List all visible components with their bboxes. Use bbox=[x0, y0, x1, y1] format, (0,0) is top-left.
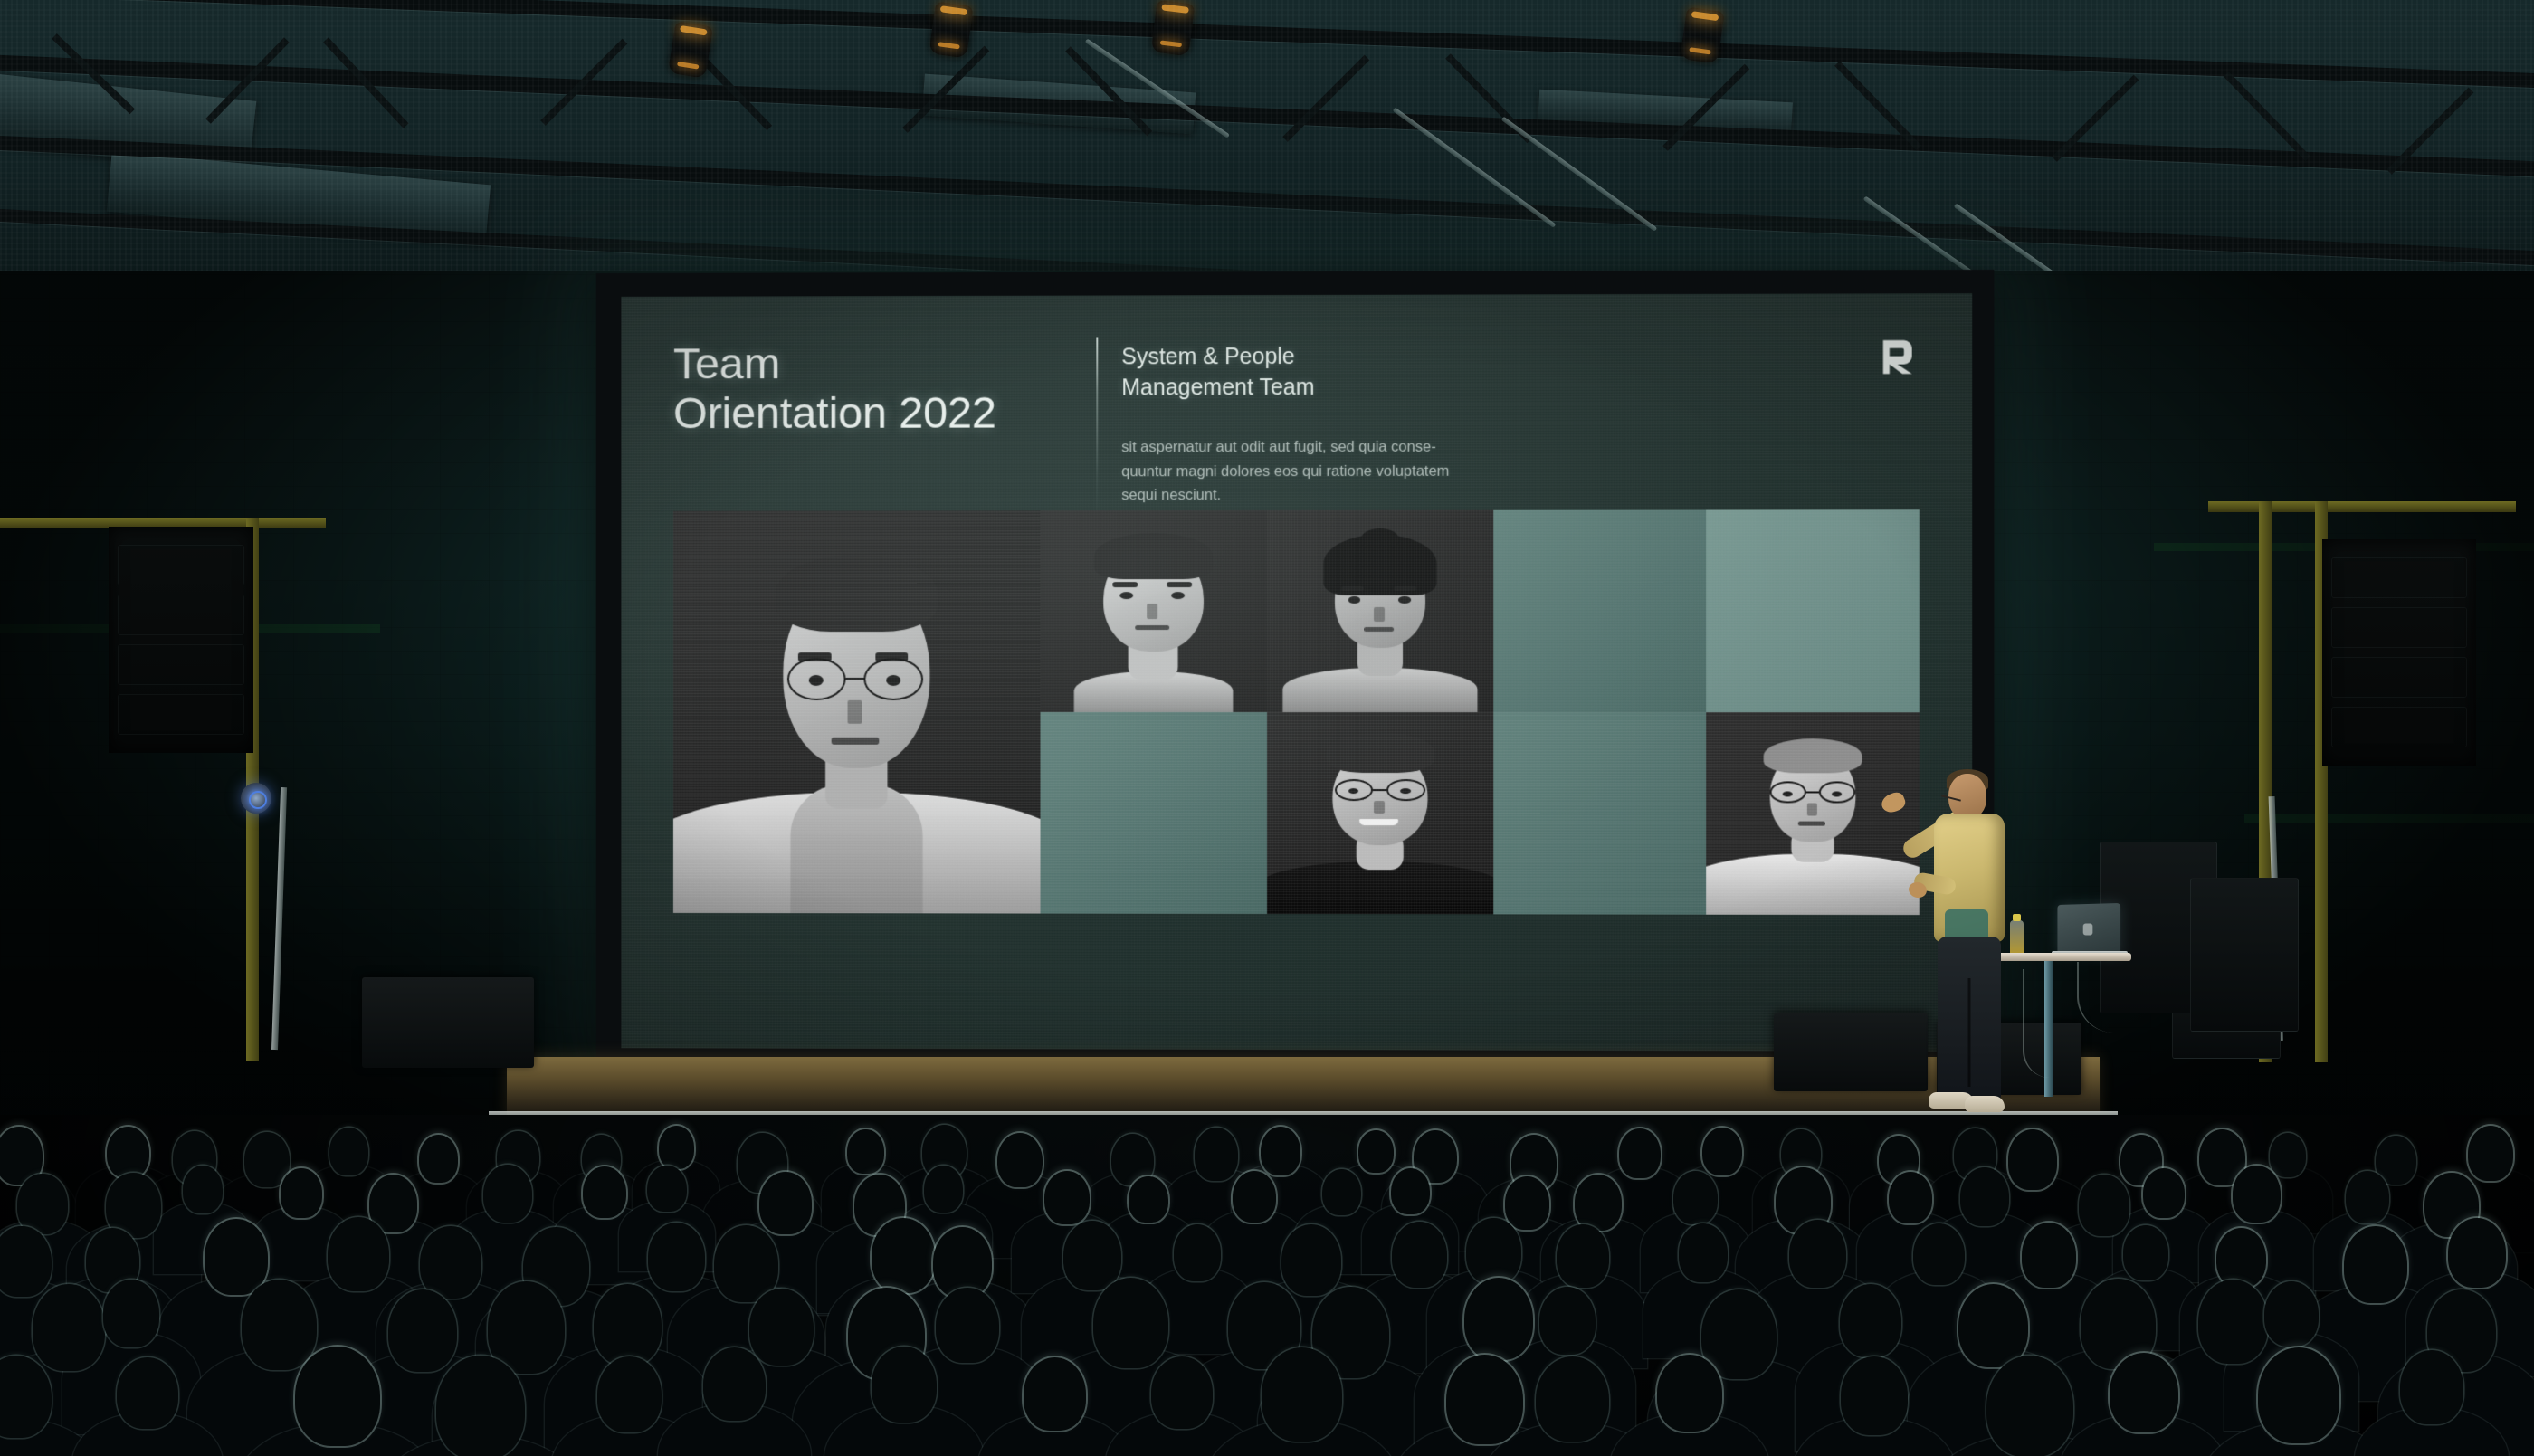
truss-diagonal-l bbox=[2052, 75, 2139, 162]
truss-diagonal-n bbox=[2386, 88, 2473, 175]
audience-member-head bbox=[183, 1166, 223, 1213]
audience-member-head bbox=[759, 1172, 812, 1234]
audience-member-head bbox=[388, 1289, 457, 1372]
truss-diagonal-h bbox=[1282, 55, 1369, 142]
audience-member-head bbox=[1391, 1168, 1430, 1215]
audience-member-head bbox=[1281, 1224, 1341, 1296]
audience-member-head bbox=[1392, 1222, 1447, 1288]
audience-member-head bbox=[2143, 1168, 2185, 1218]
audience-member-head bbox=[872, 1218, 935, 1293]
audience-member-head bbox=[420, 1226, 481, 1299]
presenter-shoe-right bbox=[1965, 1096, 2005, 1112]
audience-member-head bbox=[583, 1166, 626, 1218]
ceiling-pipe-c bbox=[1501, 116, 1658, 231]
audience-member-head bbox=[1129, 1176, 1167, 1223]
audience-member-head bbox=[648, 1223, 705, 1291]
audience-member-head bbox=[1557, 1224, 1609, 1288]
audience-member-head bbox=[0, 1226, 52, 1297]
photo-tile-woman-curly-short-hair[interactable] bbox=[1041, 510, 1267, 712]
ceiling-pipe-b bbox=[1393, 107, 1557, 227]
ceiling-duct-left bbox=[0, 73, 256, 172]
truss-diagonal-d bbox=[540, 39, 627, 126]
audience-member-head bbox=[1024, 1357, 1087, 1431]
audience-member-head bbox=[2448, 1218, 2506, 1288]
audience-member-head bbox=[1575, 1175, 1622, 1231]
speaker-driver bbox=[118, 644, 245, 685]
audience-member-head bbox=[659, 1126, 694, 1169]
audience-member-head bbox=[2022, 1223, 2076, 1288]
audience-member-head bbox=[749, 1289, 814, 1366]
portrait-young-man-glasses-smiling bbox=[1267, 712, 1494, 914]
presenter-trousers bbox=[1938, 937, 2001, 1099]
audience-member-head bbox=[1619, 1128, 1661, 1179]
audience-member-head bbox=[1536, 1356, 1609, 1442]
audience-member-head bbox=[2110, 1353, 2178, 1433]
truss-beam-3 bbox=[0, 134, 2534, 268]
audience-member-head bbox=[117, 1357, 178, 1430]
audience-member-head bbox=[936, 1288, 998, 1363]
projection-screen-surface[interactable]: Team Orientation 2022 System & People Ma… bbox=[621, 293, 1972, 1052]
truss-beam-1 bbox=[0, 0, 2534, 90]
audience-member-head bbox=[1913, 1223, 1965, 1286]
ceiling-duct-right bbox=[922, 74, 1196, 135]
audience-member-head bbox=[1093, 1278, 1168, 1368]
audience-member-head bbox=[2216, 1228, 2266, 1288]
stage-light-4 bbox=[1151, 0, 1196, 56]
truss-diagonal-a bbox=[52, 33, 135, 114]
ceiling-pipe-a bbox=[1085, 38, 1230, 138]
speaker-driver bbox=[2331, 657, 2467, 698]
audience-member-head bbox=[2400, 1350, 2463, 1424]
photo-tile-man-with-round-glasses[interactable] bbox=[673, 510, 1041, 913]
audience-member-head bbox=[1657, 1355, 1722, 1431]
audience-member-head bbox=[419, 1135, 458, 1183]
audience-member-head bbox=[483, 1165, 532, 1223]
audience-member-head bbox=[33, 1284, 105, 1371]
truss-beam-2 bbox=[0, 53, 2534, 178]
audience-member-head bbox=[328, 1217, 390, 1291]
audience-member-head bbox=[1063, 1221, 1121, 1290]
audience-member-head bbox=[1195, 1128, 1238, 1180]
audience-member-head bbox=[1679, 1223, 1728, 1282]
portrait-man-with-round-glasses bbox=[673, 510, 1041, 913]
slide-title: Team Orientation 2022 bbox=[673, 338, 1096, 438]
presenter-head bbox=[1948, 774, 1986, 819]
audience-member-head bbox=[2468, 1126, 2514, 1181]
audience-member-head bbox=[1986, 1356, 2073, 1456]
road-case-stage-right-2 bbox=[2190, 878, 2299, 1032]
audience-member-head bbox=[107, 1127, 149, 1178]
audience-member-head bbox=[2258, 1347, 2339, 1443]
slide-header: Team Orientation 2022 System & People Ma… bbox=[673, 335, 1920, 508]
right-speaker-stack bbox=[2322, 539, 2476, 766]
truss-diagonal-c bbox=[323, 37, 409, 128]
audience-member-head bbox=[1446, 1355, 1523, 1444]
photo-tile-woman-dark-bun-hair[interactable] bbox=[1267, 510, 1494, 712]
slide-subtitle: System & People Management Team bbox=[1121, 340, 1919, 403]
audience-member-head bbox=[1044, 1171, 1090, 1224]
audience-member-head bbox=[1466, 1218, 1520, 1283]
audience-member-head bbox=[2270, 1133, 2306, 1177]
stage-light-3 bbox=[1680, 6, 1725, 63]
speaker-status-led bbox=[241, 783, 271, 814]
vertical-divider bbox=[1096, 337, 1098, 518]
audience-member-head bbox=[1262, 1347, 1342, 1442]
truss-diagonal-f bbox=[902, 46, 989, 133]
slide-body-text: sit aspernatur aut odit aut fugit, sed q… bbox=[1121, 434, 1629, 508]
photo-tile-placeholder-1[interactable] bbox=[1493, 510, 1706, 713]
audience-member-head bbox=[2346, 1171, 2390, 1223]
audience-member-head bbox=[933, 1227, 992, 1298]
audience-member-head bbox=[1889, 1172, 1932, 1223]
audience-member-head bbox=[103, 1280, 159, 1347]
audience-member-head bbox=[1673, 1171, 1718, 1224]
mic-stand-left bbox=[271, 787, 287, 1050]
audience-member-head bbox=[1233, 1171, 1276, 1223]
team-photo-grid bbox=[673, 509, 1920, 915]
photo-tile-placeholder-3[interactable] bbox=[1041, 712, 1267, 914]
speaker-driver bbox=[118, 694, 245, 735]
speaker-driver bbox=[118, 545, 245, 585]
speaker-driver bbox=[118, 595, 245, 635]
truss-diagonal-b bbox=[205, 37, 290, 123]
audience-member-head bbox=[488, 1281, 565, 1374]
truss-diagonal-m bbox=[2224, 71, 2310, 161]
audience-member-head bbox=[2198, 1280, 2268, 1364]
brand-r-logo bbox=[1879, 337, 1917, 376]
truss-diagonal-e bbox=[685, 41, 772, 130]
stage-light-2 bbox=[929, 1, 974, 58]
presenter-speaker bbox=[1878, 774, 2050, 1136]
audience-member-head bbox=[1958, 1284, 2028, 1368]
power-cable bbox=[2077, 962, 2117, 1033]
audience-member-head bbox=[703, 1347, 766, 1421]
ceiling-duct-far bbox=[1538, 90, 1793, 139]
speaker-driver bbox=[2331, 707, 2467, 747]
speaker-driver bbox=[2331, 557, 2467, 598]
audience-member-head bbox=[1505, 1176, 1549, 1230]
audience-member-head bbox=[1464, 1278, 1533, 1360]
audience-member-head bbox=[1174, 1224, 1221, 1280]
venue-ceiling bbox=[0, 0, 2534, 299]
audience-member-head bbox=[1322, 1169, 1361, 1215]
audience-member-head bbox=[329, 1128, 368, 1175]
audience-member-head bbox=[244, 1132, 290, 1187]
photo-tile-placeholder-4[interactable] bbox=[1493, 712, 1706, 915]
truss-diagonal-i bbox=[1445, 53, 1532, 143]
presenter-pointing-hand bbox=[1879, 790, 1908, 815]
audience-member-head bbox=[997, 1133, 1043, 1188]
truss-diagonal-k bbox=[1834, 61, 1921, 150]
conference-hall-scene: Team Orientation 2022 System & People Ma… bbox=[0, 0, 2534, 1456]
audience-member-head bbox=[17, 1174, 68, 1234]
audience-member-head bbox=[924, 1166, 964, 1213]
audience-member-head bbox=[281, 1168, 322, 1217]
audience-member-head bbox=[872, 1347, 937, 1423]
audience-member-head bbox=[1358, 1130, 1393, 1173]
stage-light-1 bbox=[668, 21, 714, 79]
presentation-slide: Team Orientation 2022 System & People Ma… bbox=[621, 293, 1972, 1052]
portrait-woman-curly-short-hair bbox=[1041, 510, 1267, 712]
audience-member-head bbox=[2079, 1175, 2130, 1235]
audience-member-head bbox=[2233, 1166, 2281, 1223]
audience-member-head bbox=[1261, 1127, 1300, 1175]
left-truss-tower bbox=[0, 471, 344, 1068]
audience-member-head bbox=[1151, 1356, 1213, 1429]
audience-member-head bbox=[1841, 1356, 1908, 1434]
audience-member-head bbox=[436, 1356, 525, 1456]
truss-diagonal-j bbox=[1662, 64, 1749, 151]
audience-member-head bbox=[594, 1284, 662, 1366]
audience-member-head bbox=[1702, 1128, 1742, 1175]
right-tower-top-rail bbox=[2208, 501, 2516, 512]
audience-member-head bbox=[847, 1129, 883, 1174]
photo-tile-young-man-glasses-smiling[interactable] bbox=[1267, 712, 1494, 914]
audience-member-head bbox=[1840, 1284, 1901, 1357]
audience-member-head bbox=[2344, 1226, 2408, 1303]
audience-member-head bbox=[647, 1166, 686, 1212]
slide-meta-column: System & People Management Team sit aspe… bbox=[1096, 335, 1919, 508]
slide-title-column: Team Orientation 2022 bbox=[673, 337, 1096, 438]
audience-crowd bbox=[0, 1115, 2534, 1456]
laptop-screen[interactable] bbox=[2057, 903, 2120, 956]
left-speaker-stack bbox=[109, 527, 253, 753]
portrait-woman-dark-bun-hair bbox=[1267, 510, 1494, 712]
audience-member-head bbox=[2123, 1225, 2168, 1280]
audience-member-head bbox=[2008, 1129, 2058, 1189]
speaker-driver bbox=[2331, 607, 2467, 648]
audience-member-head bbox=[205, 1219, 268, 1295]
audience-member-head bbox=[242, 1280, 317, 1370]
audience-member-head bbox=[1960, 1167, 2010, 1226]
projection-screen-frame: Team Orientation 2022 System & People Ma… bbox=[596, 270, 1995, 1079]
ceiling-duct-mid bbox=[107, 152, 491, 244]
photo-tile-placeholder-2[interactable] bbox=[1706, 509, 1920, 712]
truss-diagonal-g bbox=[1065, 46, 1152, 136]
audience-member-head bbox=[2264, 1281, 2319, 1347]
stage-monitor-left bbox=[362, 977, 534, 1068]
audience-member-head bbox=[1789, 1220, 1845, 1288]
audience-member-head bbox=[597, 1356, 662, 1432]
audience-member-head bbox=[1539, 1287, 1596, 1355]
audience-member-head bbox=[295, 1347, 380, 1446]
